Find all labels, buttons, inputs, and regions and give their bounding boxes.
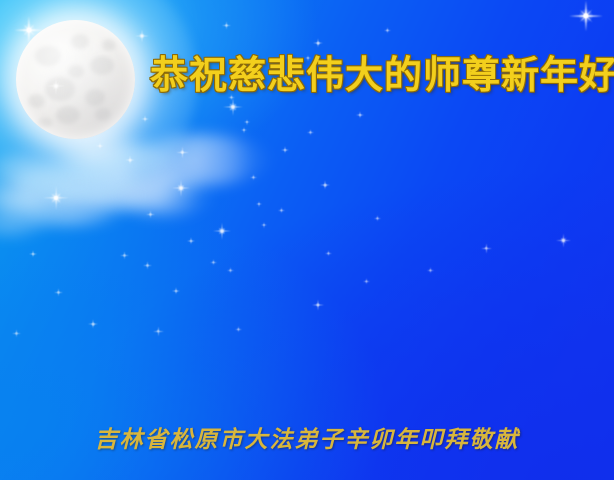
greeting-card-canvas: 恭祝慈悲伟大的师尊新年好 吉林省松原市大法弟子辛卯年叩拜敬献 (0, 0, 614, 480)
page-title: 恭祝慈悲伟大的师尊新年好 (0, 44, 614, 99)
signature-text: 吉林省松原市大法弟子辛卯年叩拜敬献 (0, 420, 614, 454)
